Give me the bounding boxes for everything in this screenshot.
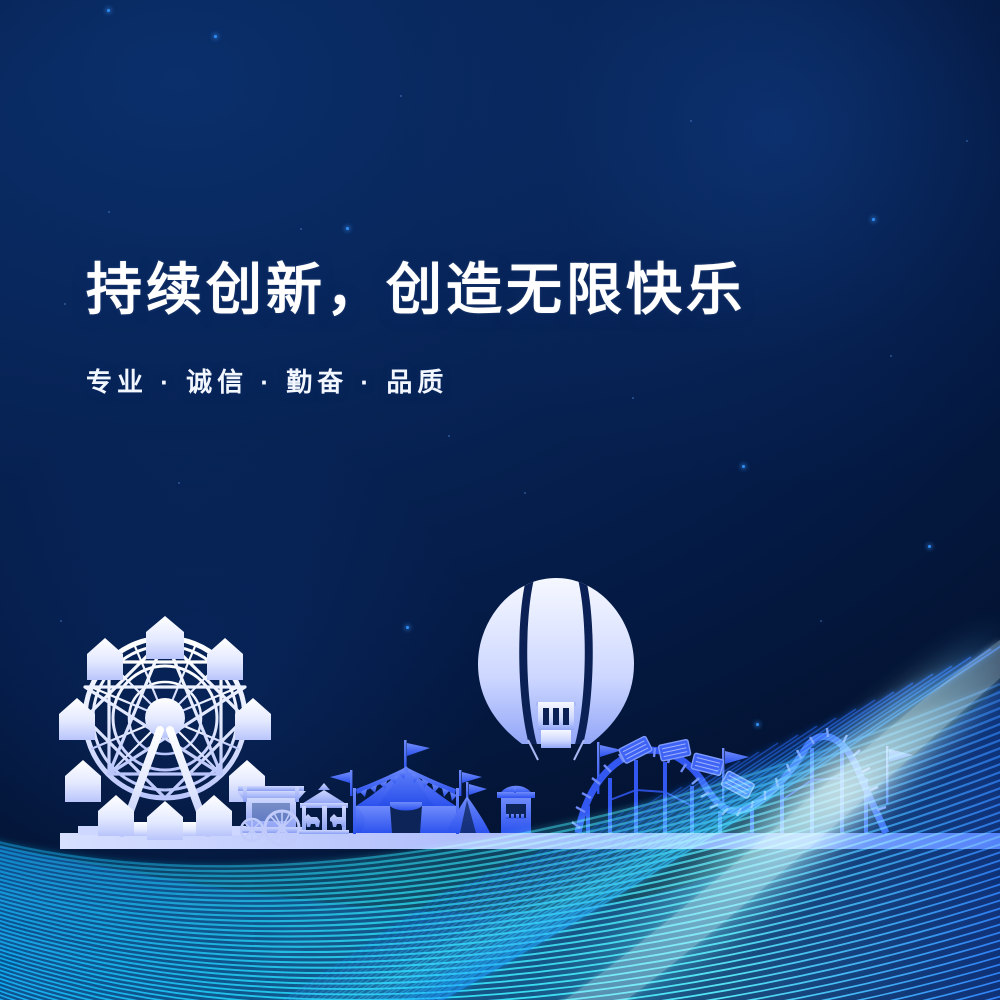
page-title: 持续创新，创造无限快乐 (86, 258, 746, 322)
banner-canvas: 持续创新，创造无限快乐专业 · 诚信 · 勤奋 · 品质 (0, 0, 1000, 1000)
background-gradient (0, 0, 1000, 1000)
page-subtitle: 专业 · 诚信 · 勤奋 · 品质 (86, 362, 746, 399)
hero-text-block: 持续创新，创造无限快乐专业 · 诚信 · 勤奋 · 品质 (86, 258, 746, 399)
